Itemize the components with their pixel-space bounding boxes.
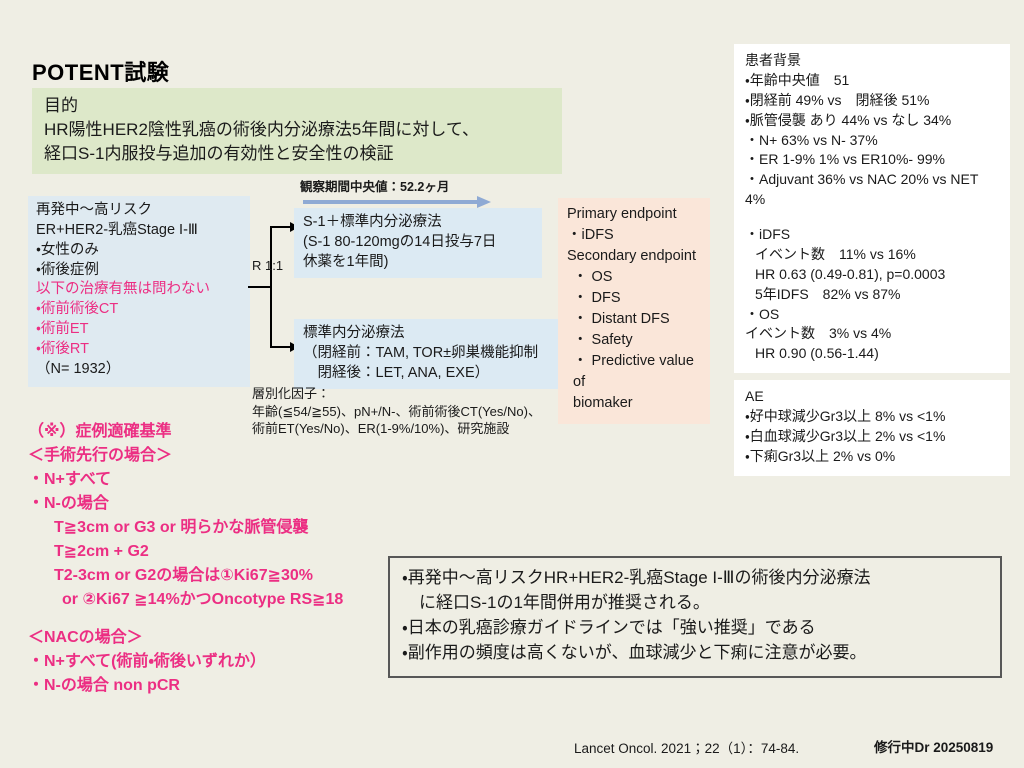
eligibility-criteria-block: （※）症例適確基準 ＜手術先行の場合＞ ・N+すべて ・N-の場合 T≧3cm … <box>28 420 428 698</box>
criteria-nac-item-1: ・N-の場合 non pCR <box>28 674 428 698</box>
results-os-events: イベント数 3% vs 4% <box>745 324 1001 344</box>
results-idfs-5year: 5年IDFS 82% vs 87% <box>745 285 1001 305</box>
adverse-events-item-1: ・白血球減少Gr3以上 2% vs <1% <box>745 427 1001 447</box>
patient-background-item-4: ・ER 1-9% 1% vs ER10%- 99% <box>745 150 1001 170</box>
patient-background-heading: 患者背景 <box>745 51 1001 71</box>
objective-box: 目的 HR陽性HER2陰性乳癌の術後内分泌療法5年間に対して、 経口S-1内服投… <box>32 88 562 174</box>
eligibility-line-7: ・術前ET <box>36 320 242 340</box>
patient-background-item-3: ・N+ 63% vs N- 37% <box>745 131 1001 151</box>
objective-heading: 目的 <box>44 94 552 118</box>
patient-background-panel: 患者背景 ・年齢中央値 51 ・閉経前 49% vs 閉経後 51% ・脈管侵襲… <box>734 44 1010 219</box>
endpoints-box: Primary endpoint ・iDFS Secondary endpoin… <box>558 198 710 424</box>
observation-period-label: 観察期間中央値：52.2ヶ月 <box>300 176 449 195</box>
randomization-bracket-icon <box>248 226 294 348</box>
eligibility-line-2: ER+HER2-乳癌Stage I-Ⅲ <box>36 221 242 241</box>
eligibility-line-1: 再発中〜高リスク <box>36 201 242 221</box>
criteria-nac-heading: ＜NACの場合＞ <box>28 626 428 650</box>
primary-endpoint-heading: Primary endpoint <box>567 204 702 225</box>
experimental-arm-line-3: 休薬を1年間) <box>303 252 534 272</box>
eligibility-box: 再発中〜高リスク ER+HER2-乳癌Stage I-Ⅲ ・女性のみ ・術後症例… <box>28 196 250 387</box>
eligibility-line-5: 以下の治療有無は問わない <box>36 280 242 300</box>
adverse-events-item-0: ・好中球減少Gr3以上 8% vs <1% <box>745 407 1001 427</box>
criteria-surgery-item-0: ・N+すべて <box>28 468 428 492</box>
conclusion-line-4: ・副作用の頻度は高くないが、血球減少と下痢に注意が必要。 <box>402 641 990 666</box>
experimental-arm-line-2: (S-1 80-120mgの14日投与7日 <box>303 232 534 252</box>
patient-background-item-1: ・閉経前 49% vs 閉経後 51% <box>745 91 1001 111</box>
stratification-heading: 層別化因子： <box>252 385 562 403</box>
secondary-endpoint-item-1: ・ DFS <box>567 288 702 309</box>
criteria-surgery-sub-2: T2-3cm or G2の場合は①Ki67≧30% <box>28 564 428 588</box>
slide-canvas: POTENT試験 目的 HR陽性HER2陰性乳癌の術後内分泌療法5年間に対して、… <box>0 0 1024 768</box>
secondary-endpoint-item-3: ・ Safety <box>567 330 702 351</box>
control-arm-line-3: 閉経後：LET, ANA, EXE） <box>303 363 566 383</box>
criteria-nac-item-0: ・N+すべて(術前・術後いずれか） <box>28 650 428 674</box>
footer-author: 修行中Dr 20250819 <box>874 736 993 756</box>
conclusion-line-1: ・再発中〜高リスクHR+HER2-乳癌Stage I-Ⅲの術後内分泌療法 <box>402 566 990 591</box>
eligibility-line-8: ・術後RT <box>36 340 242 360</box>
results-panel: ・iDFS イベント数 11% vs 16% HR 0.63 (0.49-0.8… <box>734 218 1010 373</box>
eligibility-line-6: ・術前術後CT <box>36 300 242 320</box>
results-idfs-heading: ・iDFS <box>745 225 1001 245</box>
criteria-title: （※）症例適確基準 <box>28 420 428 444</box>
criteria-surgery-sub-1: T≧2cm + G2 <box>28 540 428 564</box>
control-arm-line-1: 標準内分泌療法 <box>303 323 566 343</box>
secondary-endpoint-item-5: biomaker <box>567 393 702 414</box>
results-idfs-events: イベント数 11% vs 16% <box>745 245 1001 265</box>
eligibility-line-9: （N= 1932） <box>36 360 242 380</box>
randomization-ratio-label: R 1:1 <box>252 258 283 273</box>
control-arm-box: 標準内分泌療法 （閉経前：TAM, TOR±卵巣機能抑制 閉経後：LET, AN… <box>294 319 574 389</box>
experimental-arm-box: S-1＋標準内分泌療法 (S-1 80-120mgの14日投与7日 休薬を1年間… <box>294 208 542 278</box>
criteria-surgery-sub-0: T≧3cm or G3 or 明らかな脈管侵襲 <box>28 516 428 540</box>
criteria-surgery-item-1: ・N-の場合 <box>28 492 428 516</box>
conclusion-line-3: ・日本の乳癌診療ガイドラインでは「強い推奨」である <box>402 616 990 641</box>
adverse-events-heading: AE <box>745 387 1001 407</box>
experimental-arm-line-1: S-1＋標準内分泌療法 <box>303 212 534 232</box>
patient-background-item-2: ・脈管侵襲 あり 44% vs なし 34% <box>745 111 1001 131</box>
eligibility-line-3: ・女性のみ <box>36 241 242 261</box>
observation-period-arrow-icon <box>303 196 493 208</box>
criteria-surgery-sub-3: or ②Ki67 ≧14%かつOncotype RS≧18 <box>28 588 428 612</box>
patient-background-item-0: ・年齢中央値 51 <box>745 71 1001 91</box>
conclusion-line-2: に経口S-1の1年間併用が推奨される。 <box>402 591 990 616</box>
adverse-events-panel: AE ・好中球減少Gr3以上 8% vs <1% ・白血球減少Gr3以上 2% … <box>734 380 1010 476</box>
control-arm-line-2: （閉経前：TAM, TOR±卵巣機能抑制 <box>303 343 566 363</box>
patient-background-item-5: ・Adjuvant 36% vs NAC 20% vs NET 4% <box>745 170 1001 210</box>
secondary-endpoint-item-0: ・ OS <box>567 267 702 288</box>
results-idfs-hr: HR 0.63 (0.49-0.81), p=0.0003 <box>745 265 1001 285</box>
eligibility-line-4: ・術後症例 <box>36 261 242 281</box>
primary-endpoint-item-0: ・iDFS <box>567 225 702 246</box>
adverse-events-item-2: ・下痢Gr3以上 2% vs 0% <box>745 447 1001 467</box>
secondary-endpoint-item-2: ・ Distant DFS <box>567 309 702 330</box>
footer-citation: Lancet Oncol. 2021；22（1）：74-84. <box>574 737 799 757</box>
criteria-surgery-heading: ＜手術先行の場合＞ <box>28 444 428 468</box>
conclusion-box: ・再発中〜高リスクHR+HER2-乳癌Stage I-Ⅲの術後内分泌療法 に経口… <box>388 556 1002 678</box>
secondary-endpoint-item-4: ・ Predictive value of <box>567 351 702 393</box>
page-title: POTENT試験 <box>32 55 169 87</box>
results-os-hr: HR 0.90 (0.56-1.44) <box>745 344 1001 364</box>
objective-line-2: 経口S-1内服投与追加の有効性と安全性の検証 <box>44 142 552 166</box>
objective-line-1: HR陽性HER2陰性乳癌の術後内分泌療法5年間に対して、 <box>44 118 552 142</box>
results-os-heading: ・OS <box>745 305 1001 325</box>
secondary-endpoint-heading: Secondary endpoint <box>567 246 702 267</box>
stratification-line-1: 年齢(≦54/≧55)、pN+/N-、術前術後CT(Yes/No)、 <box>252 403 562 421</box>
